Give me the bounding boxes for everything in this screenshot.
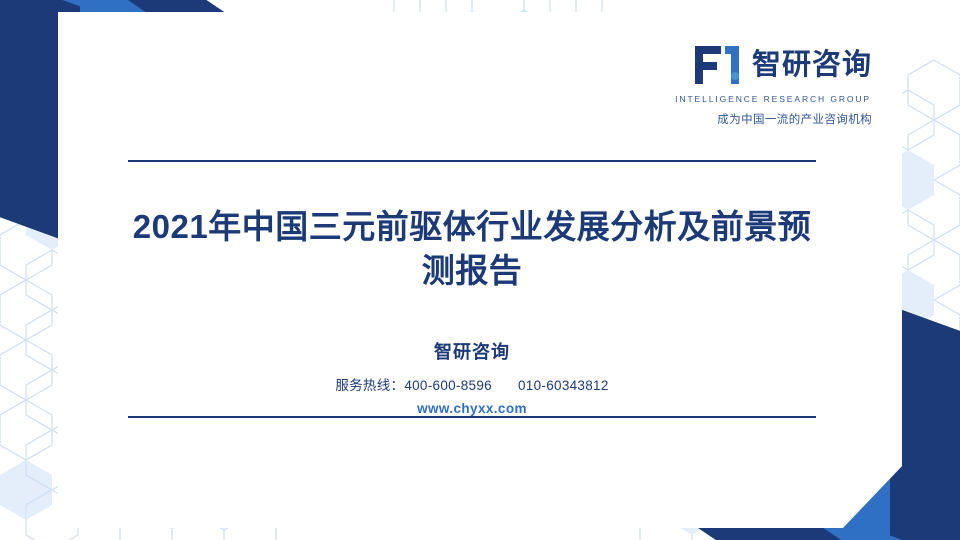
logo-row: 智研咨询 [691,42,872,88]
hotline-label: 服务热线： [335,378,404,393]
divider-bottom [128,416,816,418]
logo-mark-icon [691,42,743,88]
logo-slogan: 成为中国一流的产业咨询机构 [717,111,872,127]
website-url: www.chyxx.com [128,401,816,416]
logo-english-name: INTELLIGENCE RESEARCH GROUP [675,94,871,104]
divider-top [128,160,816,162]
title-slide: 智研咨询 INTELLIGENCE RESEARCH GROUP 成为中国一流的… [0,0,960,540]
slide-content: 智研咨询 INTELLIGENCE RESEARCH GROUP 成为中国一流的… [0,0,960,540]
hotline-number-primary: 400-600-8596 [404,378,492,393]
hotline-row: 服务热线：400-600-8596010-60343812 [128,374,816,394]
page-title: 2021年中国三元前驱体行业发展分析及前景预测报告 [128,205,816,292]
company-name: 智研咨询 [128,338,816,364]
hotline-number-secondary: 010-60343812 [518,378,609,393]
brand-logo: 智研咨询 INTELLIGENCE RESEARCH GROUP 成为中国一流的… [675,42,872,127]
logo-name: 智研咨询 [752,51,872,80]
